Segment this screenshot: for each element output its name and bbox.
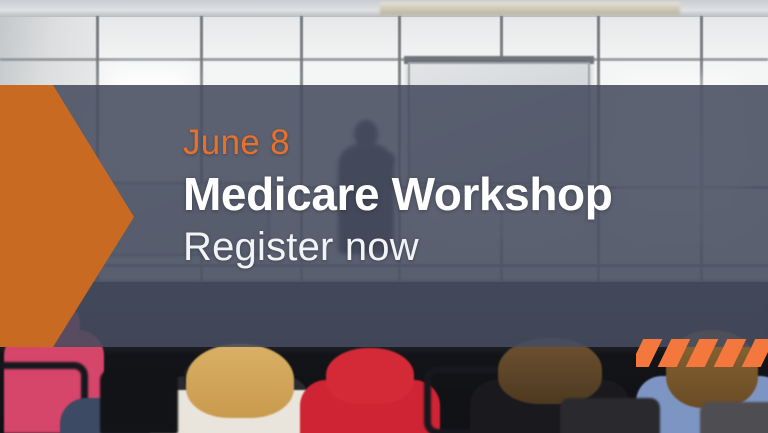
diagonal-stripes-accent (636, 339, 768, 367)
chair (560, 398, 660, 433)
banner-text-block: June 8 Medicare Workshop Register now (183, 122, 743, 270)
audience-person-red-hoodie (300, 350, 440, 433)
chair (100, 370, 178, 433)
window-horizontal-mullion (0, 58, 768, 61)
event-title: Medicare Workshop (183, 169, 743, 220)
event-date: June 8 (183, 122, 743, 163)
chair (700, 402, 768, 433)
event-promo-banner: June 8 Medicare Workshop Register now (0, 0, 768, 433)
ceiling-light-fixture (380, 2, 680, 15)
call-to-action: Register now (183, 224, 743, 270)
